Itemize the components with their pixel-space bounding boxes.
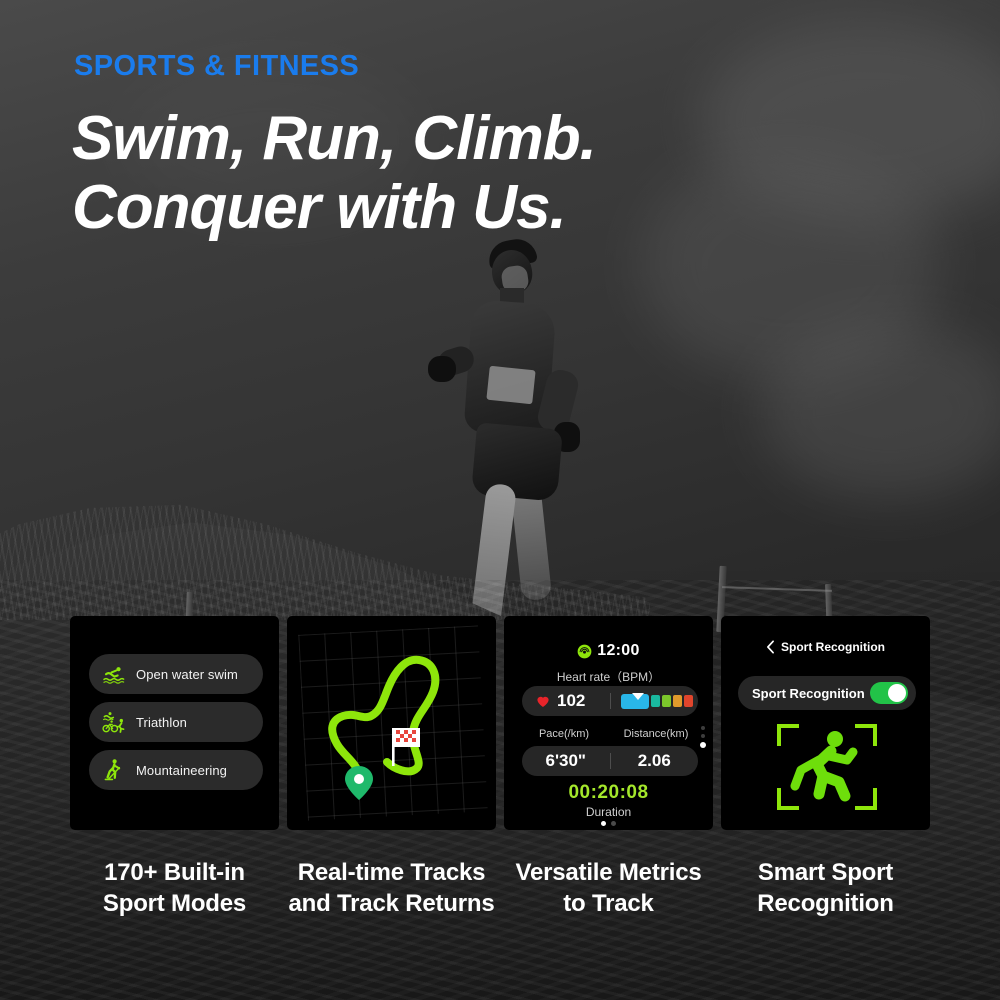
eyebrow-label: SPORTS & FITNESS <box>74 50 359 83</box>
caption-sport-modes: 170+ Built-in Sport Modes <box>70 858 279 919</box>
hr-zone-3 <box>662 695 671 707</box>
feature-card-row: Open water swim Tri <box>70 616 930 830</box>
caption-line-1: Versatile Metrics <box>504 858 713 889</box>
card-metrics: 12:00 Heart rate（BPM） 102 <box>504 616 713 830</box>
scan-bracket-top-right <box>855 724 877 746</box>
caption-line-2: and Track Returns <box>287 889 496 920</box>
page-title: Swim, Run, Climb. Conquer with Us. <box>72 104 596 243</box>
location-pin-icon <box>345 766 373 800</box>
heart-rate-zone-bar <box>611 694 693 709</box>
cloud-shape <box>760 320 1000 500</box>
clock-time: 12:00 <box>597 642 639 660</box>
scroll-dot <box>701 734 705 738</box>
page-dot-active <box>601 821 606 826</box>
sport-recognition-toggle-row[interactable]: Sport Recognition <box>738 676 916 710</box>
scroll-indicator[interactable] <box>700 726 706 748</box>
distance-label: Distance(km) <box>610 728 702 740</box>
pace-label: Pace(/km) <box>518 728 610 740</box>
track-route <box>287 616 496 830</box>
caption-sport-recognition: Smart Sport Recognition <box>721 858 930 919</box>
heart-rate-value-group: 102 <box>522 691 610 711</box>
triathlon-icon <box>102 710 126 734</box>
caption-line-1: 170+ Built-in <box>70 858 279 889</box>
caption-line-1: Smart Sport <box>721 858 930 889</box>
recognition-scan-frame <box>777 724 877 810</box>
hr-zone-marker-icon <box>632 693 644 700</box>
scroll-dot <box>701 726 705 730</box>
chevron-left-icon[interactable] <box>766 640 775 654</box>
sport-mode-item-open-water-swim[interactable]: Open water swim <box>89 654 263 694</box>
pace-value: 6'30" <box>522 751 610 771</box>
toggle-knob <box>888 684 906 702</box>
gps-signal-icon <box>577 644 592 659</box>
pace-distance-row[interactable]: 6'30" 2.06 <box>522 746 698 776</box>
sport-mode-list: Open water swim Tri <box>89 654 263 790</box>
mountaineering-icon <box>102 758 126 782</box>
screen-header: Sport Recognition <box>721 640 930 654</box>
metrics-status-bar: 12:00 <box>504 642 713 660</box>
headline-line-2: Conquer with Us. <box>72 173 596 242</box>
scan-bracket-bottom-right <box>855 788 877 810</box>
card-sport-recognition: Sport Recognition Sport Recognition <box>721 616 930 830</box>
duration-value: 00:20:08 <box>504 782 713 804</box>
hr-zone-5 <box>684 695 693 707</box>
sport-mode-item-triathlon[interactable]: Triathlon <box>89 702 263 742</box>
heart-rate-label: Heart rate（BPM） <box>504 668 713 685</box>
headline-line-1: Swim, Run, Climb. <box>72 104 596 173</box>
toggle-label: Sport Recognition <box>752 686 865 701</box>
page-dot <box>611 821 616 826</box>
duration-label: Duration <box>504 805 713 819</box>
scan-bracket-bottom-left <box>777 788 799 810</box>
sport-mode-label: Mountaineering <box>136 763 227 778</box>
distance-value: 2.06 <box>611 751 699 771</box>
caption-track-map: Real-time Tracks and Track Returns <box>287 858 496 919</box>
open-water-swim-icon <box>102 662 126 686</box>
heart-rate-value: 102 <box>557 691 585 711</box>
sport-mode-label: Open water swim <box>136 667 238 682</box>
sports-fitness-promo-page: SPORTS & FITNESS Swim, Run, Climb. Conqu… <box>0 0 1000 1000</box>
screen-title: Sport Recognition <box>781 640 885 654</box>
caption-line-2: to Track <box>504 889 713 920</box>
page-indicator-dots <box>504 821 713 826</box>
scan-bracket-top-left <box>777 724 799 746</box>
feature-caption-row: 170+ Built-in Sport Modes Real-time Trac… <box>70 858 930 919</box>
hr-zone-4 <box>673 695 682 707</box>
caption-metrics: Versatile Metrics to Track <box>504 858 713 919</box>
scroll-dot-active <box>700 742 706 748</box>
heart-rate-row[interactable]: 102 <box>522 686 698 716</box>
card-track-map <box>287 616 496 830</box>
sport-mode-label: Triathlon <box>136 715 187 730</box>
hr-zone-2 <box>651 695 660 707</box>
sport-recognition-toggle[interactable] <box>870 682 908 704</box>
card-sport-modes: Open water swim Tri <box>70 616 279 830</box>
heart-icon <box>535 693 551 709</box>
caption-line-1: Real-time Tracks <box>287 858 496 889</box>
pace-distance-labels: Pace(/km) Distance(km) <box>518 728 702 740</box>
caption-line-2: Recognition <box>721 889 930 920</box>
caption-line-2: Sport Modes <box>70 889 279 920</box>
sport-mode-item-mountaineering[interactable]: Mountaineering <box>89 750 263 790</box>
